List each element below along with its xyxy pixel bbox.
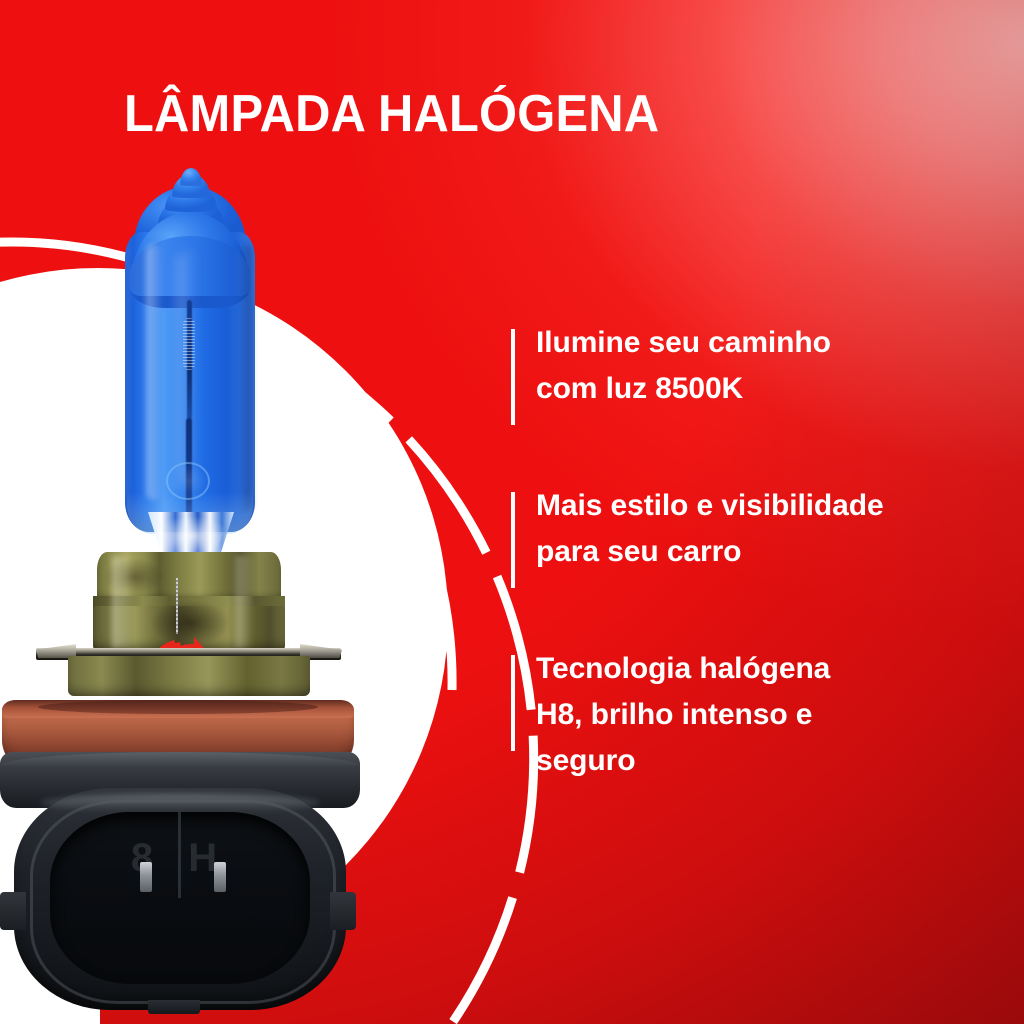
feature-accent-bar	[511, 329, 515, 425]
bulb-brass-shine-right	[236, 556, 254, 648]
feature-item-style: Mais estilo e visibilidade para seu carr…	[511, 483, 1016, 574]
bulb-connector-tab-bottom	[148, 1000, 200, 1014]
bulb-filament-coil	[183, 318, 195, 370]
feature-line: Mais estilo e visibilidade	[536, 483, 1016, 529]
feature-accent-bar	[511, 492, 515, 588]
product-banner: 8 H LÂMPADA HALÓGENA Ilumine seu caminho…	[0, 0, 1024, 1024]
bulb-brass-shine-left	[112, 556, 134, 648]
feature-text: Mais estilo e visibilidade para seu carr…	[536, 483, 1016, 574]
feature-line: H8, brilho intenso e	[536, 692, 1016, 738]
product-image-halogen-bulb: 8 H	[0, 0, 460, 1024]
bulb-connector-pin-right	[214, 862, 226, 892]
feature-line: Tecnologia halógena	[536, 646, 1016, 692]
bulb-connector-pin-left	[140, 862, 152, 892]
bulb-glass-highlight-left	[146, 244, 162, 500]
bulb-brass-lower-ring	[68, 656, 310, 696]
feature-line: com luz 8500K	[536, 366, 1016, 412]
feature-line: para seu carro	[536, 529, 1016, 575]
feature-list: Ilumine seu caminho com luz 8500K Mais e…	[511, 320, 1016, 783]
page-title: LÂMPADA HALÓGENA	[124, 88, 659, 140]
brand-tag-chain	[176, 578, 178, 634]
bulb-glass-edge-shadow	[238, 244, 252, 512]
feature-item-lumens: Ilumine seu caminho com luz 8500K	[511, 320, 1016, 411]
feature-line: seguro	[536, 738, 1016, 784]
bulb-tip-point	[180, 168, 202, 186]
feature-text: Ilumine seu caminho com luz 8500K	[536, 320, 1016, 411]
feature-line: Ilumine seu caminho	[536, 320, 1016, 366]
bulb-connector-divider	[178, 812, 181, 898]
bulb-connector-tab-right	[330, 892, 356, 930]
feature-item-technology: Tecnologia halógena H8, brilho intenso e…	[511, 646, 1016, 783]
feature-accent-bar	[511, 655, 515, 751]
bulb-connector-tab-left	[0, 892, 26, 930]
feature-text: Tecnologia halógena H8, brilho intenso e…	[536, 646, 1016, 783]
bulb-copper-ring-inner	[38, 700, 318, 714]
